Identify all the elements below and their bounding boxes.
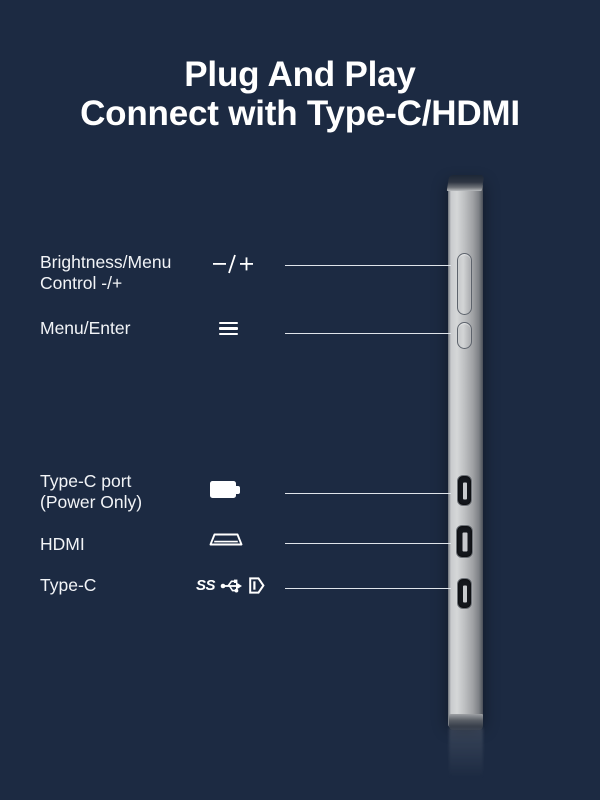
headline-line-2: Connect with Type-C/HDMI [0,94,600,133]
headline-block: Plug And Play Connect with Type-C/HDMI [0,55,600,133]
headline-line-1: Plug And Play [0,55,600,94]
port-tongue [463,482,467,499]
callout-label-type-c: Type-C [40,575,96,596]
hdmi-port [456,525,473,558]
callout-label-type-c-power: Type-C port (Power Only) [40,471,142,513]
leader-line-type-c [285,588,451,589]
port-tongue [462,532,467,551]
device-top-cap [447,175,485,191]
superspeed-label: SS [196,577,215,594]
leader-line-type-c-power [285,493,451,494]
leader-line-hdmi [285,543,451,544]
hdmi-connector-icon [208,530,244,548]
type-c-port [457,578,472,609]
callout-label-brightness-menu-control: Brightness/Menu Control -/+ [40,252,171,294]
callout-label-menu-enter: Menu/Enter [40,318,130,339]
usb-superspeed-displayport-icon: SS [196,577,265,594]
menu-button[interactable] [457,322,472,349]
brightness-button[interactable] [457,253,472,315]
product-infographic: Plug And Play Connect with Type-C/HDMI B… [0,0,600,800]
leader-line-menu [285,333,451,334]
device-reflection [449,728,483,778]
type-c-power-port [457,475,472,506]
minus-slash-plus-icon [213,253,257,275]
port-tongue [463,585,467,602]
usb-trident-icon [220,578,244,594]
callout-label-hdmi: HDMI [40,534,85,555]
battery-icon [210,481,240,498]
leader-line-brightness [285,265,451,266]
portable-monitor-side-profile [448,183,483,728]
hamburger-menu-icon [219,322,238,335]
displayport-icon [249,577,265,594]
